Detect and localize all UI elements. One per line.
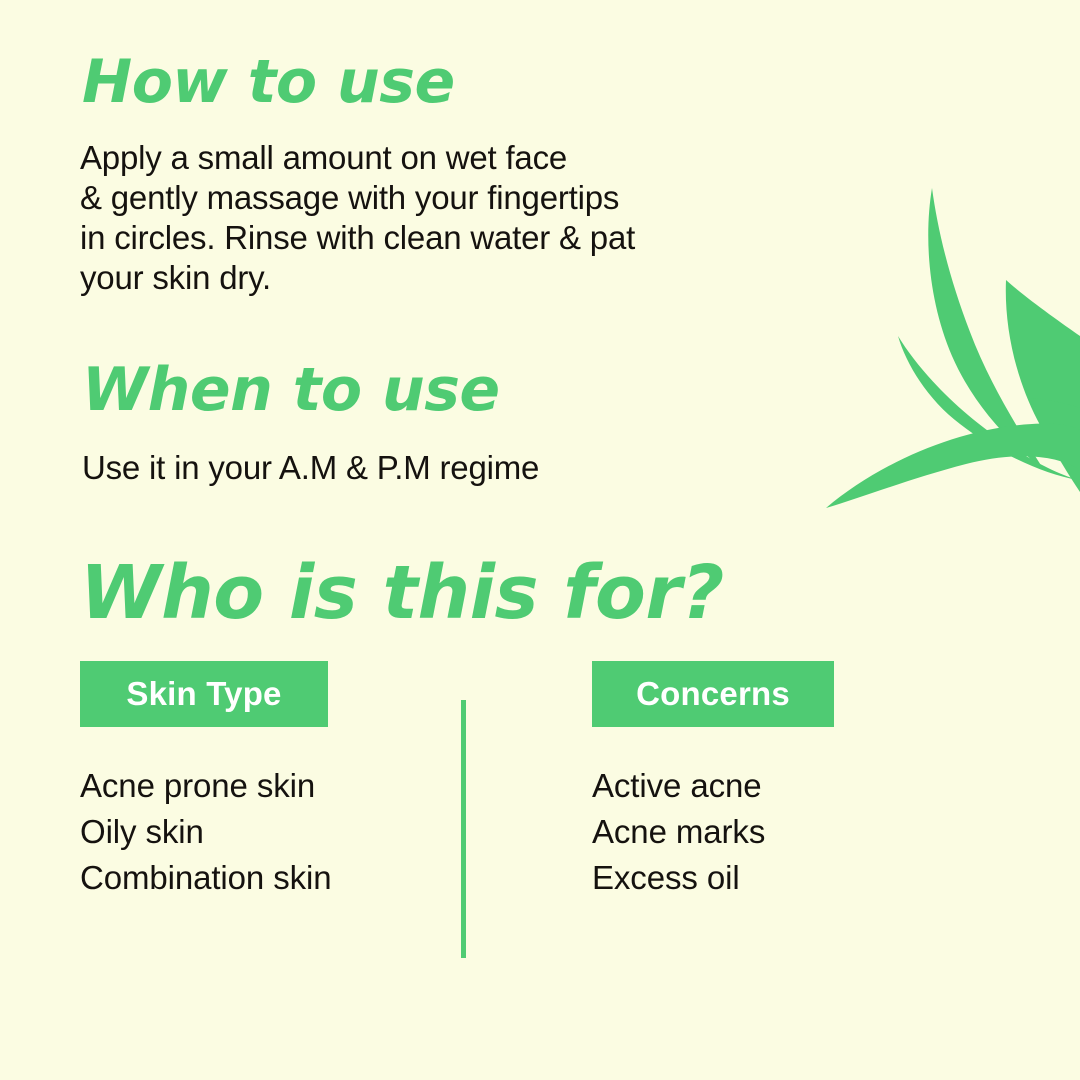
list-item: Oily skin <box>80 809 332 855</box>
list-skin-type: Acne prone skin Oily skin Combination sk… <box>80 763 332 901</box>
leaf-blade-curved-base <box>826 423 1080 508</box>
body-how-to-use: Apply a small amount on wet face & gentl… <box>80 138 635 298</box>
leaf-blade-upright <box>1006 280 1080 484</box>
badge-concerns: Concerns <box>592 661 834 727</box>
leaf-blade-lower <box>1028 398 1080 492</box>
leaf-illustration <box>820 140 1080 540</box>
heading-when-to-use: When to use <box>82 360 500 420</box>
list-item: Acne marks <box>592 809 765 855</box>
badge-skin-type: Skin Type <box>80 661 328 727</box>
body-when-to-use: Use it in your A.M & P.M regime <box>82 448 539 488</box>
list-item: Excess oil <box>592 855 765 901</box>
list-concerns: Active acne Acne marks Excess oil <box>592 763 765 901</box>
column-divider <box>461 700 466 958</box>
heading-who-is-this-for: Who is this for? <box>80 556 724 630</box>
heading-how-to-use: How to use <box>82 52 455 112</box>
list-item: Active acne <box>592 763 765 809</box>
leaf-blade-tall <box>928 188 1044 470</box>
infographic-canvas: How to use Apply a small amount on wet f… <box>0 0 1080 1080</box>
leaf-blade-middle <box>898 336 1078 480</box>
list-item: Acne prone skin <box>80 763 332 809</box>
list-item: Combination skin <box>80 855 332 901</box>
